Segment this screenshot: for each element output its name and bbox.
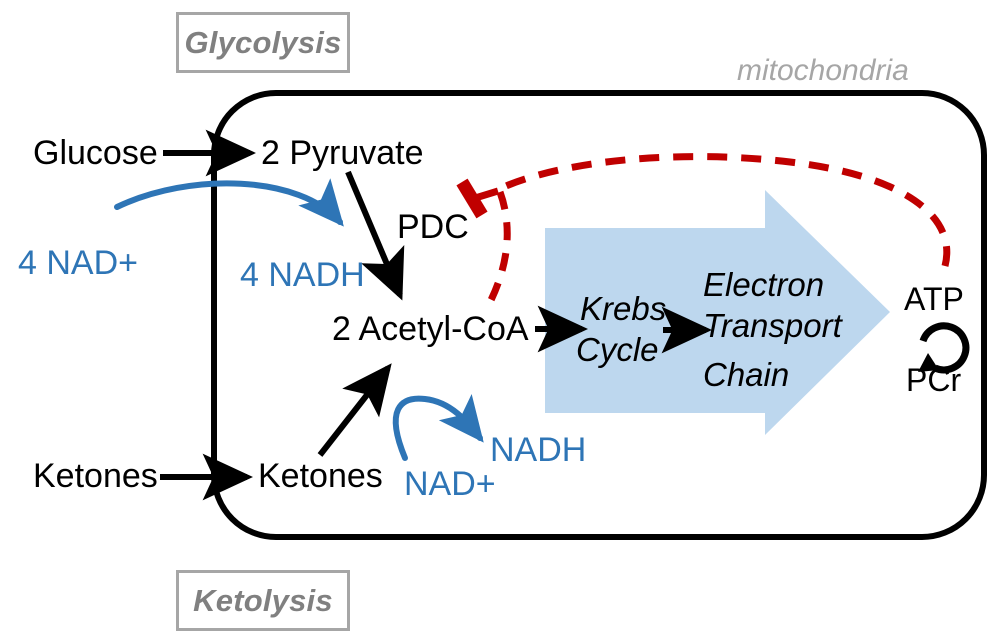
cofactor-curve-glycolysis	[117, 183, 340, 222]
cofactor-curve-ketolysis	[396, 399, 480, 458]
label-nad-plus-glycolysis: 4 NAD+	[18, 246, 138, 280]
label-pcr: PCr	[906, 364, 961, 396]
label-krebs-line1: Krebs	[580, 290, 666, 328]
inhibition-stem	[472, 191, 498, 199]
label-nadh-ketolysis: NADH	[490, 433, 586, 467]
mitochondria-caption: mitochondria	[737, 54, 909, 88]
metabolic-pathway-diagram: Glycolysis Ketolysis mitochondria Glucos…	[0, 0, 1000, 644]
label-ketones-external: Ketones	[33, 459, 158, 493]
label-krebs-line2: Cycle	[576, 331, 659, 369]
phase-label-ketolysis-text: Ketolysis	[193, 583, 333, 619]
label-glucose-external: Glucose	[33, 136, 158, 170]
label-ketones-internal: Ketones	[258, 459, 383, 493]
label-pdc-enzyme: PDC	[397, 210, 469, 244]
label-pyruvate: 2 Pyruvate	[261, 136, 424, 170]
label-nad-plus-ketolysis: NAD+	[404, 467, 496, 501]
label-etc-line3: Chain	[703, 356, 789, 394]
label-etc-line2: Transport	[703, 307, 842, 345]
inhibition-branch-to-acetylcoa	[487, 192, 507, 308]
phase-label-glycolysis-text: Glycolysis	[184, 25, 341, 61]
label-etc-line1: Electron	[703, 266, 824, 304]
label-acetyl-coa: 2 Acetyl-CoA	[332, 312, 529, 346]
label-atp: ATP	[904, 283, 964, 315]
label-nadh-glycolysis: 4 NADH	[240, 258, 365, 292]
phase-label-ketolysis: Ketolysis	[176, 570, 350, 631]
arrow-ketones-to-acetylcoa	[320, 368, 388, 455]
phase-label-glycolysis: Glycolysis	[176, 12, 350, 73]
